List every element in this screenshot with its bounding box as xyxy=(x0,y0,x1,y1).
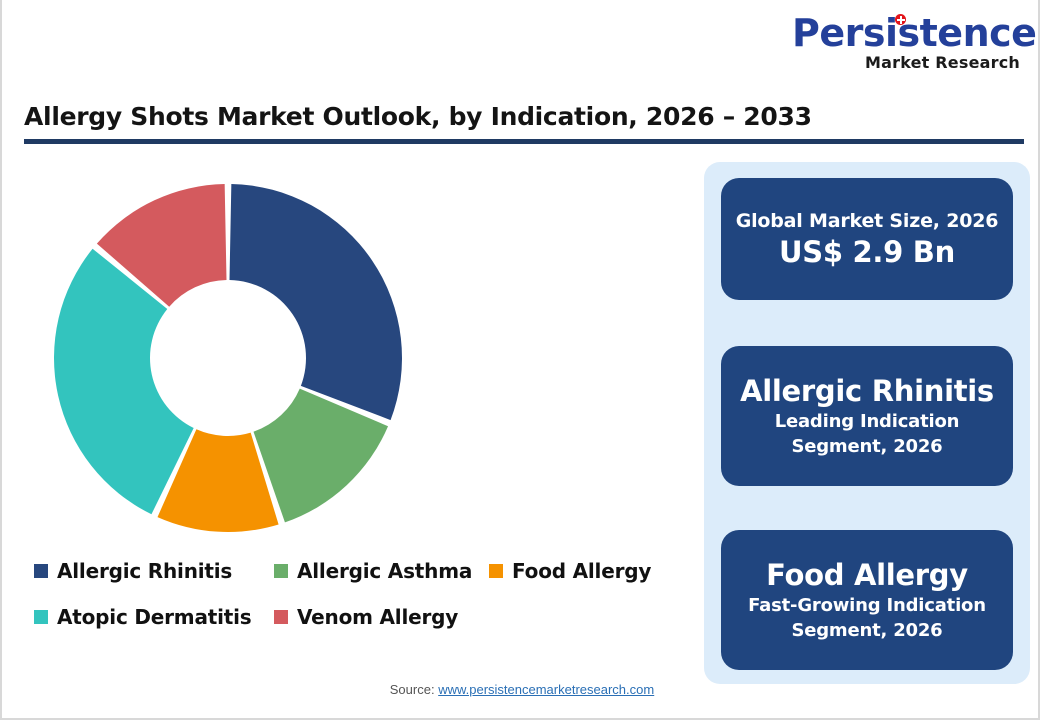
chart-legend: Allergic Rhinitis Allergic Asthma Food A… xyxy=(34,548,694,640)
legend-label: Atopic Dermatitis xyxy=(57,605,251,629)
stat-card-fastest-growing-segment: Food Allergy Fast-Growing Indication Seg… xyxy=(721,530,1013,670)
brand-logo: Persistence Market Research xyxy=(792,12,1022,74)
stat-card-value: Allergic Rhinitis xyxy=(740,373,994,409)
donut-chart-svg xyxy=(38,168,418,548)
source-link[interactable]: www.persistencemarketresearch.com xyxy=(438,682,654,697)
legend-swatch-allergic-rhinitis xyxy=(34,564,48,578)
highlights-panel: Global Market Size, 2026 US$ 2.9 Bn Alle… xyxy=(704,162,1030,684)
legend-swatch-venom-allergy xyxy=(274,610,288,624)
legend-label: Allergic Asthma xyxy=(297,559,472,583)
brand-tagline: Market Research xyxy=(792,54,1022,72)
legend-row: Allergic Rhinitis Allergic Asthma Food A… xyxy=(34,548,694,594)
legend-item-allergic-asthma[interactable]: Allergic Asthma xyxy=(274,559,489,583)
legend-swatch-atopic-dermatitis xyxy=(34,610,48,624)
stat-card-value: US$ 2.9 Bn xyxy=(779,234,955,270)
legend-label: Food Allergy xyxy=(512,559,651,583)
stat-card-sub-line-1: Fast-Growing Indication xyxy=(748,593,986,618)
legend-item-atopic-dermatitis[interactable]: Atopic Dermatitis xyxy=(34,605,274,629)
legend-row: Atopic Dermatitis Venom Allergy xyxy=(34,594,694,640)
stat-card-sub-line-1: Leading Indication xyxy=(775,409,960,434)
stat-card-market-size: Global Market Size, 2026 US$ 2.9 Bn xyxy=(721,178,1013,300)
title-underline xyxy=(24,139,1024,144)
legend-item-venom-allergy[interactable]: Venom Allergy xyxy=(274,605,458,629)
legend-swatch-allergic-asthma xyxy=(274,564,288,578)
source-label: Source: xyxy=(390,682,438,697)
source-footer: Source: www.persistencemarketresearch.co… xyxy=(2,682,1040,697)
page-title: Allergy Shots Market Outlook, by Indicat… xyxy=(24,102,1024,132)
stat-card-eyebrow: Global Market Size, 2026 xyxy=(736,208,999,234)
donut-chart xyxy=(18,160,688,540)
legend-label: Allergic Rhinitis xyxy=(57,559,232,583)
infographic-page: Persistence Market Research Allergy Shot… xyxy=(0,0,1040,720)
stat-card-sub-line-2: Segment, 2026 xyxy=(791,618,942,643)
red-cross-icon xyxy=(895,14,906,25)
brand-name: Persistence xyxy=(792,12,1022,54)
stat-card-sub-line-2: Segment, 2026 xyxy=(791,434,942,459)
legend-item-allergic-rhinitis[interactable]: Allergic Rhinitis xyxy=(34,559,274,583)
legend-item-food-allergy[interactable]: Food Allergy xyxy=(489,559,651,583)
legend-swatch-food-allergy xyxy=(489,564,503,578)
legend-label: Venom Allergy xyxy=(297,605,458,629)
donut-slice[interactable] xyxy=(229,184,402,420)
title-block: Allergy Shots Market Outlook, by Indicat… xyxy=(24,102,1024,144)
stat-card-leading-segment: Allergic Rhinitis Leading Indication Seg… xyxy=(721,346,1013,486)
stat-card-value: Food Allergy xyxy=(766,557,968,593)
